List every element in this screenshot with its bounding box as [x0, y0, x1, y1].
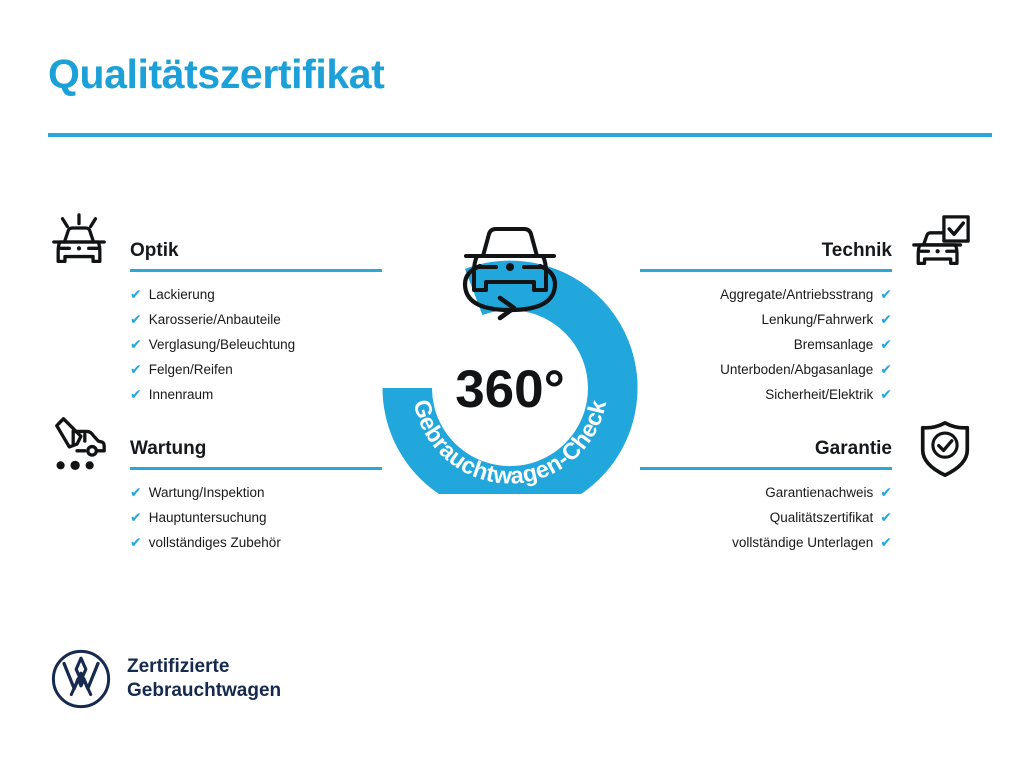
section-title-wartung: Wartung	[130, 436, 382, 462]
shield-check-icon	[914, 418, 976, 480]
page-title: Qualitätszertifikat	[48, 52, 384, 97]
list-item-label: Karosserie/Anbauteile	[149, 308, 281, 332]
list-item-label: Wartung/Inspektion	[149, 481, 265, 505]
section-header: Optik	[130, 238, 382, 272]
check-icon: ✔	[130, 332, 142, 356]
section-header: Wartung	[130, 436, 382, 470]
section-title-garantie: Garantie	[640, 436, 892, 462]
check-icon: ✔	[130, 505, 142, 529]
car-shine-icon	[48, 212, 110, 274]
checklist-wartung: ✔ Wartung/Inspektion ✔ Hauptuntersuchung…	[130, 470, 382, 555]
section-divider	[130, 467, 382, 470]
check-icon: ✔	[880, 480, 892, 504]
section-header: Technik	[640, 238, 892, 272]
section-wartung: Wartung ✔ Wartung/Inspektion ✔ Hauptunte…	[130, 436, 382, 555]
list-item: Sicherheit/Elektrik ✔	[640, 382, 892, 407]
list-item-label: Aggregate/Antriebsstrang	[720, 283, 873, 307]
section-garantie: Garantie Garantienachweis ✔ Qualitätszer…	[640, 436, 892, 555]
list-item-label: Lackierung	[149, 283, 215, 307]
footer-line-2: Gebrauchtwagen	[127, 679, 281, 703]
list-item-label: Lenkung/Fahrwerk	[761, 308, 873, 332]
list-item: Unterboden/Abgasanlage ✔	[640, 357, 892, 382]
check-icon: ✔	[880, 307, 892, 331]
footer-brand-text: Zertifizierte Gebrauchtwagen	[127, 655, 281, 703]
list-item-label: Unterboden/Abgasanlage	[720, 358, 873, 382]
volkswagen-logo	[50, 648, 112, 710]
check-icon: ✔	[880, 530, 892, 554]
check-icon: ✔	[130, 382, 142, 406]
list-item: ✔ Karosserie/Anbauteile	[130, 307, 382, 332]
list-item: Garantienachweis ✔	[640, 480, 892, 505]
section-header: Garantie	[640, 436, 892, 470]
check-icon: ✔	[880, 282, 892, 306]
list-item-label: Hauptuntersuchung	[149, 506, 267, 530]
check-icon: ✔	[130, 530, 142, 554]
list-item: ✔ Verglasung/Beleuchtung	[130, 332, 382, 357]
list-item: ✔ Innenraum	[130, 382, 382, 407]
list-item: ✔ Lackierung	[130, 282, 382, 307]
section-divider	[130, 269, 382, 272]
list-item: Bremsanlage ✔	[640, 332, 892, 357]
list-item: Lenkung/Fahrwerk ✔	[640, 307, 892, 332]
list-item-label: Innenraum	[149, 383, 214, 407]
check-icon: ✔	[130, 307, 142, 331]
list-item: ✔ Wartung/Inspektion	[130, 480, 382, 505]
section-optik: Optik ✔ Lackierung ✔ Karosserie/Anbautei…	[130, 238, 382, 407]
list-item: vollständige Unterlagen ✔	[640, 530, 892, 555]
check-icon: ✔	[880, 357, 892, 381]
check-icon: ✔	[130, 480, 142, 504]
checklist-optik: ✔ Lackierung ✔ Karosserie/Anbauteile ✔ V…	[130, 272, 382, 407]
check-icon: ✔	[880, 332, 892, 356]
list-item-label: Qualitätszertifikat	[770, 506, 874, 530]
check-icon: ✔	[130, 282, 142, 306]
footer-line-1: Zertifizierte	[127, 655, 281, 679]
list-item: ✔ vollständiges Zubehör	[130, 530, 382, 555]
list-item: Qualitätszertifikat ✔	[640, 505, 892, 530]
list-item-label: Felgen/Reifen	[149, 358, 233, 382]
footer-brand-lockup: Zertifizierte Gebrauchtwagen	[50, 648, 281, 710]
list-item-label: Garantienachweis	[765, 481, 873, 505]
section-title-optik: Optik	[130, 238, 382, 264]
section-title-technik: Technik	[640, 238, 892, 264]
checklist-technik: Aggregate/Antriebsstrang ✔ Lenkung/Fahrw…	[640, 272, 892, 407]
list-item-label: vollständige Unterlagen	[732, 531, 873, 555]
list-item-label: vollständiges Zubehör	[149, 531, 281, 555]
check-icon: ✔	[880, 382, 892, 406]
car-service-checklist-icon	[48, 414, 110, 476]
list-item-label: Verglasung/Beleuchtung	[149, 333, 295, 357]
section-divider	[640, 467, 892, 470]
badge-center-value: 360°	[455, 360, 565, 419]
checklist-garantie: Garantienachweis ✔ Qualitätszertifikat ✔…	[640, 470, 892, 555]
check-icon: ✔	[130, 357, 142, 381]
section-divider	[640, 269, 892, 272]
badge-360-gebrauchtwagen-check: Gebrauchtwagen-Check 360°	[373, 198, 647, 494]
list-item-label: Bremsanlage	[794, 333, 874, 357]
list-item: ✔ Felgen/Reifen	[130, 357, 382, 382]
list-item: Aggregate/Antriebsstrang ✔	[640, 282, 892, 307]
car-checkbox-icon	[910, 212, 972, 274]
check-icon: ✔	[880, 505, 892, 529]
section-technik: Technik Aggregate/Antriebsstrang ✔ Lenku…	[640, 238, 892, 407]
title-divider	[48, 133, 992, 137]
list-item: ✔ Hauptuntersuchung	[130, 505, 382, 530]
list-item-label: Sicherheit/Elektrik	[765, 383, 873, 407]
